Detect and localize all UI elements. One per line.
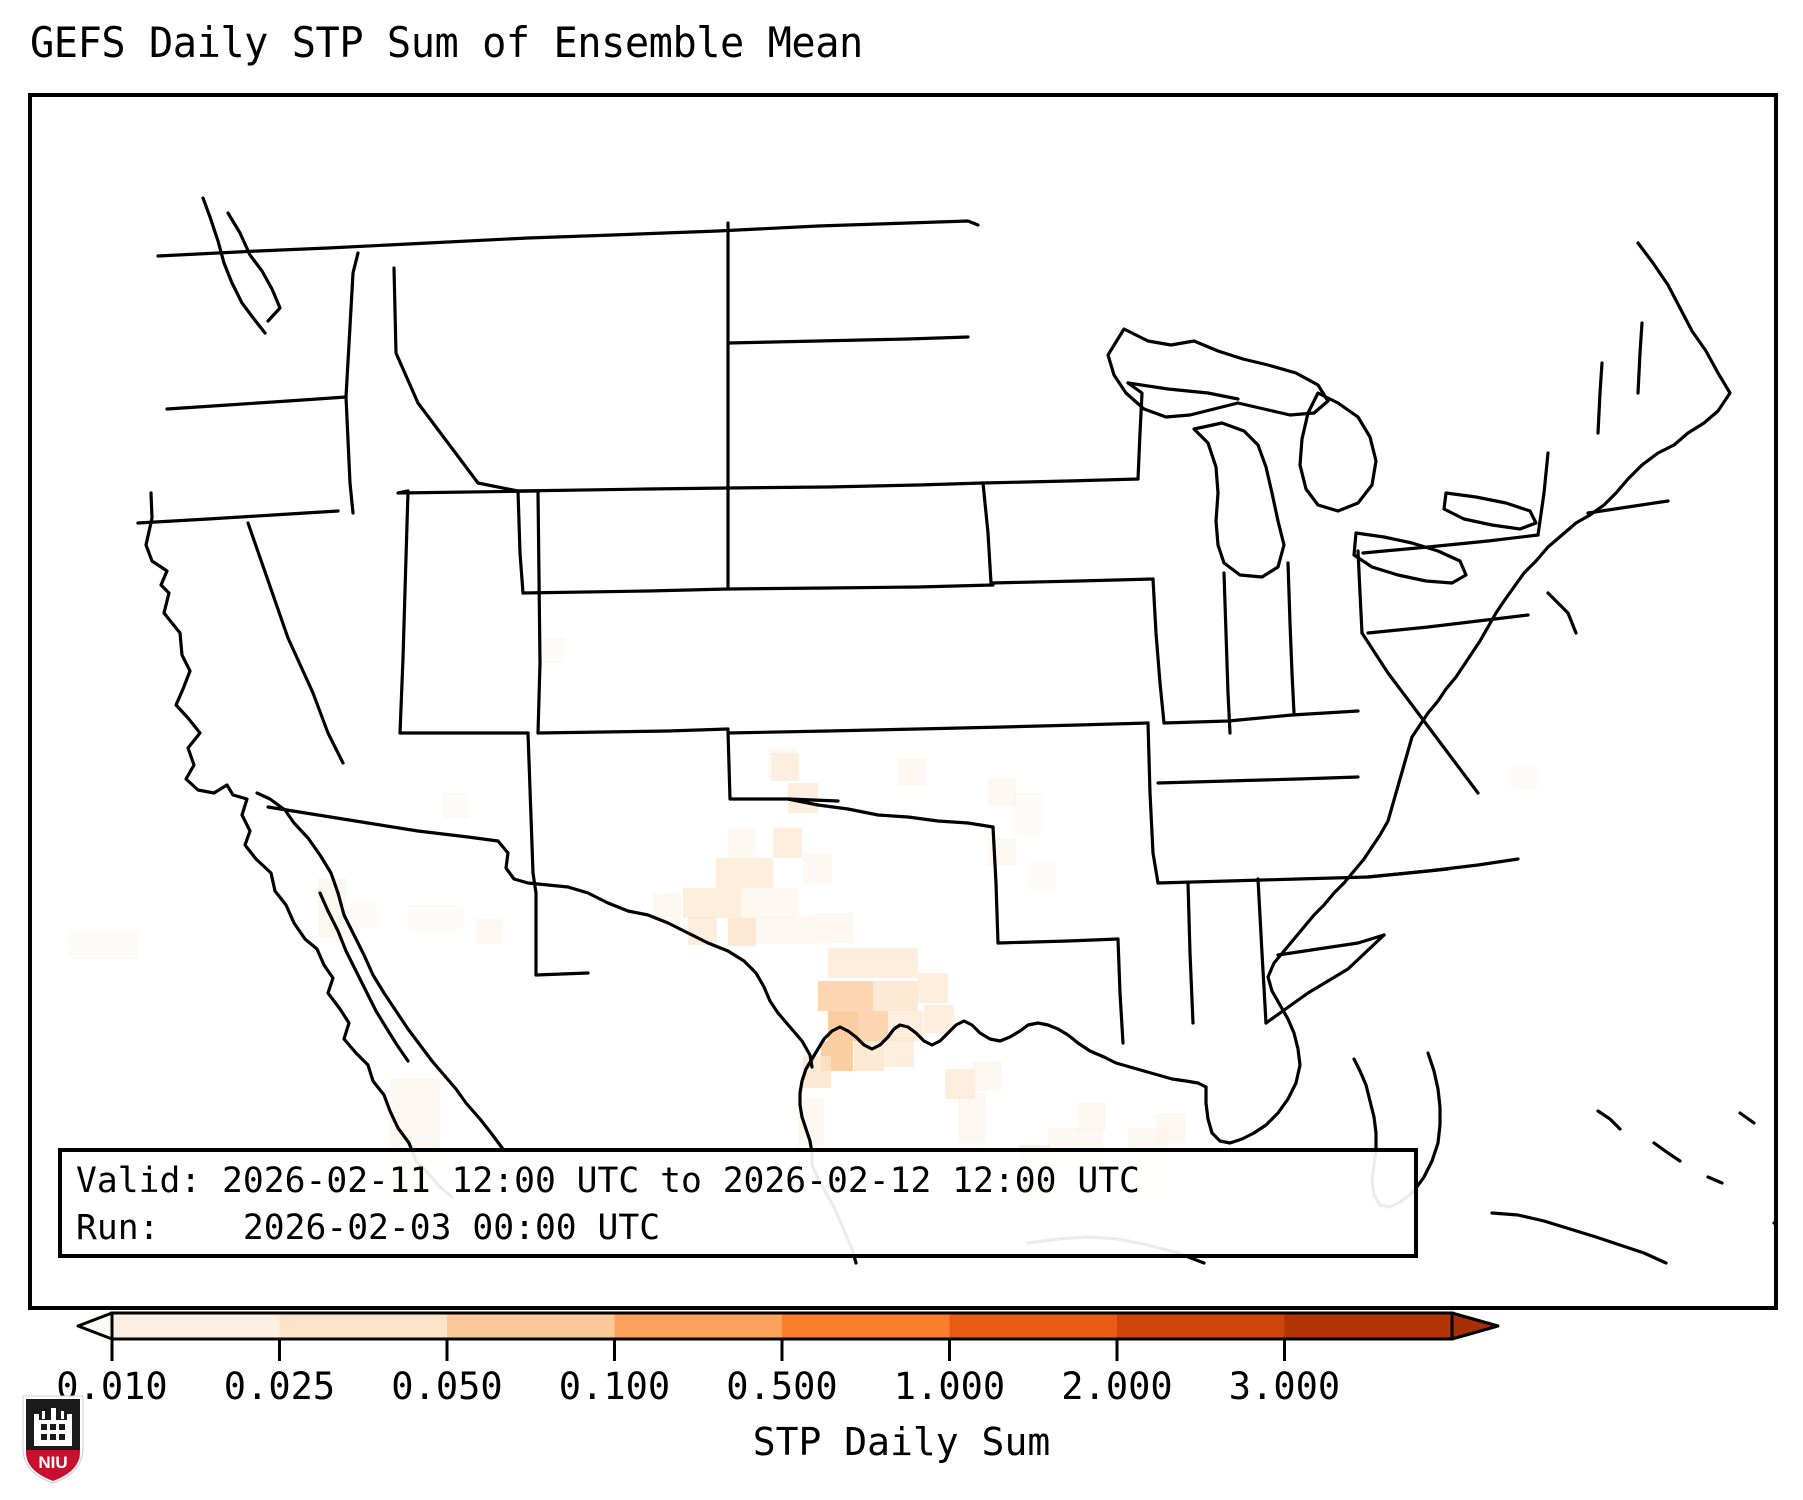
- state-ny-ne: [1538, 453, 1548, 535]
- colorbar-extend-low: [78, 1313, 112, 1339]
- coastline-cuba: [1492, 1213, 1666, 1263]
- state-il-in: [1224, 573, 1230, 733]
- state-id-mt-wy: [394, 268, 538, 493]
- data-cell: [873, 981, 918, 1011]
- page-title: GEFS Daily STP Sum of Ensemble Mean: [30, 18, 863, 67]
- state-mo-ar: [1003, 723, 1148, 727]
- state-mn-ia: [983, 479, 1138, 483]
- state-wa-id: [346, 253, 358, 397]
- state-or-ca: [138, 511, 338, 523]
- colorbar-tick-label: 3.000: [1229, 1365, 1340, 1408]
- info-valid-line: Valid: 2026-02-11 12:00 UTC to 2026-02-1…: [76, 1158, 1387, 1205]
- data-cell: [972, 1061, 1002, 1091]
- map-border: [30, 95, 1776, 1308]
- data-cell: [814, 913, 854, 943]
- state-ar-la: [998, 939, 1118, 943]
- colorbar[interactable]: 0.0100.0250.0500.1000.5001.0002.0003.000…: [0, 1305, 1803, 1500]
- state-ms-al: [1188, 883, 1193, 1023]
- data-cell: [818, 981, 873, 1011]
- niu-logo: NIU: [18, 1390, 88, 1485]
- state-wa-or: [167, 397, 346, 409]
- state-ut-co: [538, 491, 540, 733]
- colorbar-tick-label: 0.050: [391, 1365, 502, 1408]
- state-in-oh: [1288, 563, 1294, 713]
- colorbar-band: [112, 1313, 280, 1339]
- data-cell: [858, 1011, 888, 1041]
- state-nh-vt: [1598, 363, 1602, 433]
- colorbar-band: [615, 1313, 783, 1339]
- colorbar-bands: [78, 1313, 1498, 1339]
- state-ne-ia: [983, 483, 991, 583]
- data-cell: [898, 758, 926, 786]
- state-id-wy-border: [518, 491, 523, 593]
- map-panel[interactable]: [28, 93, 1778, 1310]
- colorbar-band: [1117, 1313, 1285, 1339]
- colorbar-tick-labels: 0.0100.0250.0500.1000.5001.0002.0003.000: [0, 1365, 1803, 1415]
- data-cell: [741, 888, 799, 918]
- data-cell: [798, 1098, 824, 1146]
- data-cell: [476, 919, 503, 944]
- state-ks-ok: [728, 727, 1003, 733]
- data-cell: [1156, 1113, 1186, 1143]
- lake-huron: [1300, 393, 1376, 511]
- data-cell: [683, 888, 741, 918]
- colorbar-band: [280, 1313, 448, 1339]
- data-cell: [68, 931, 138, 959]
- state-ia-mo: [991, 579, 1153, 583]
- data-cell: [803, 853, 832, 883]
- island-bahamas-2: [1654, 1143, 1680, 1161]
- coastline-carolina: [1206, 847, 1372, 1143]
- data-cell: [538, 638, 565, 663]
- border-us-canada: [158, 221, 978, 256]
- data-cell: [958, 1093, 986, 1143]
- island-bahamas-3: [1708, 1177, 1722, 1183]
- data-cell: [884, 1037, 914, 1067]
- data-cell: [773, 828, 802, 858]
- state-wy-co: [523, 589, 728, 593]
- data-cell: [756, 916, 814, 944]
- state-nj-de: [1548, 593, 1576, 633]
- coastline-vancouver: [203, 198, 265, 333]
- lake-michigan: [1194, 423, 1284, 577]
- data-cell: [442, 793, 469, 818]
- state-ar-ms: [1148, 723, 1158, 883]
- state-va-nc: [1368, 859, 1518, 877]
- colorbar-band: [950, 1313, 1118, 1339]
- state-tn-ms-al-ga: [1158, 877, 1368, 883]
- state-sd-ne: [728, 483, 983, 488]
- map-canvas: [28, 93, 1778, 1310]
- colorbar-tick-label: 0.100: [559, 1365, 670, 1408]
- lake-erie: [1354, 533, 1466, 583]
- colorbar-band: [782, 1313, 950, 1339]
- state-wy-mt: [518, 488, 728, 491]
- data-cell: [1511, 765, 1537, 789]
- island-bahamas-1: [1598, 1111, 1620, 1129]
- data-cell: [1013, 793, 1041, 835]
- state-nd-sd: [728, 337, 968, 343]
- state-me-nh: [1638, 323, 1642, 393]
- colorbar-axis-label: STP Daily Sum: [0, 1420, 1803, 1464]
- colorbar-band: [447, 1313, 615, 1339]
- data-cell: [716, 858, 773, 888]
- state-nv-ut-az: [400, 491, 408, 733]
- island-bahamas-4: [1740, 1113, 1754, 1123]
- niu-logo-text: NIU: [38, 1453, 67, 1472]
- map-figure: GEFS Daily STP Sum of Ensemble Mean: [0, 0, 1803, 1500]
- data-cell: [653, 893, 681, 921]
- state-mo-il: [1153, 579, 1164, 723]
- coastline-puget: [228, 213, 280, 321]
- data-cell: [350, 903, 377, 928]
- state-ne-ks: [728, 585, 993, 589]
- state-co-nm: [538, 729, 728, 733]
- colorbar-tick-label: 0.500: [726, 1365, 837, 1408]
- colorbar-band: [1285, 1313, 1453, 1339]
- state-la-ms: [1118, 939, 1123, 1043]
- data-cell: [408, 905, 463, 931]
- data-cell: [1078, 1103, 1106, 1131]
- colorbar-tick-label: 2.000: [1061, 1365, 1172, 1408]
- data-cell: [873, 948, 918, 978]
- colorbar-tick-label: 1.000: [894, 1365, 1005, 1408]
- state-ca-nv: [248, 523, 343, 763]
- state-mi-upper: [1128, 383, 1238, 399]
- state-wv-va: [1362, 633, 1478, 793]
- lake-ontario: [1444, 493, 1536, 529]
- data-cells-layer: [68, 638, 1537, 1213]
- coastline-atlantic-north: [1372, 243, 1730, 847]
- data-cell: [988, 778, 1016, 806]
- info-run-line: Run: 2026-02-03 00:00 UTC: [76, 1205, 1387, 1252]
- state-al-ga: [1258, 879, 1266, 1023]
- colorbar-extend-high: [1452, 1313, 1498, 1339]
- info-box: Valid: 2026-02-11 12:00 UTC to 2026-02-1…: [58, 1148, 1418, 1258]
- colorbar-ticks: [112, 1339, 1285, 1361]
- coastline-baja: [257, 793, 503, 1149]
- state-nm-tx: [536, 893, 588, 975]
- state-ok-tx-redriver: [788, 799, 993, 827]
- state-oh-pa-wv: [1358, 551, 1362, 633]
- data-cell: [728, 828, 756, 858]
- data-cell: [768, 748, 796, 778]
- state-or-id: [346, 397, 353, 513]
- state-ky-tn: [1158, 777, 1358, 783]
- state-md-pa: [1368, 615, 1528, 633]
- state-ky-oh-in-il: [1164, 711, 1358, 723]
- data-cell: [1028, 863, 1056, 891]
- island-bahamas-5: [1774, 1223, 1778, 1229]
- data-cell: [803, 1056, 831, 1088]
- colorbar-tick-label: 0.025: [224, 1365, 335, 1408]
- data-cell: [988, 838, 1016, 866]
- data-cell: [828, 948, 873, 978]
- data-cell: [924, 1005, 954, 1033]
- data-cell: [728, 918, 756, 946]
- state-az-nm: [528, 733, 536, 893]
- data-cell: [918, 973, 948, 1003]
